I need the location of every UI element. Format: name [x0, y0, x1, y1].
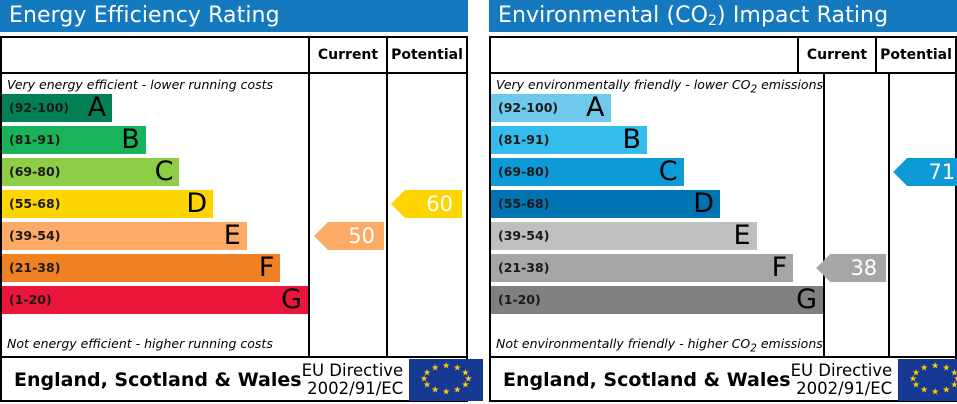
- energy-efficiency-rating-panel: Energy Efficiency Rating Current Potenti…: [0, 0, 468, 404]
- energy-table-body-row: Very energy efficient - lower running co…: [2, 74, 466, 358]
- eu-flag-icon: ★★★★★★★★★★★★: [898, 359, 957, 401]
- eu-flag-star-icon: ★: [461, 382, 469, 391]
- co2-band-e-letter: E: [734, 222, 751, 249]
- co2-bottom-caption-suffix: emissions: [757, 336, 823, 351]
- energy-header-current: Current: [310, 38, 388, 72]
- energy-directive-line1: EU Directive: [302, 362, 404, 380]
- energy-current-value: 50: [348, 226, 375, 247]
- co2-band-b-letter: B: [623, 126, 642, 153]
- energy-band-b-range: (81-91): [2, 134, 60, 147]
- energy-table-header-row: Current Potential: [2, 38, 466, 74]
- co2-footer-region: England, Scotland & Wales: [491, 369, 791, 391]
- epc-charts-container: Energy Efficiency Rating Current Potenti…: [0, 0, 957, 404]
- eu-flag-star-icon: ★: [920, 386, 928, 395]
- co2-band-list: (92-100) A (81-91) B (69-80) C (55-68): [491, 94, 823, 314]
- co2-band-g: (1-20) G: [491, 286, 823, 314]
- co2-bands-column: Very environmentally friendly - lower CO…: [491, 74, 825, 356]
- energy-top-caption: Very energy efficient - lower running co…: [2, 74, 308, 93]
- co2-title-suffix: ) Impact Rating: [717, 3, 888, 28]
- co2-band-d: (55-68) D: [491, 190, 720, 218]
- co2-directive-line1: EU Directive: [791, 362, 893, 380]
- energy-band-g: (1-20) G: [2, 286, 308, 314]
- energy-bottom-caption: Not energy efficient - higher running co…: [2, 336, 273, 355]
- energy-band-a: (92-100) A: [2, 94, 112, 122]
- energy-band-a-letter: A: [88, 94, 106, 121]
- energy-potential-rating-arrow: 60: [391, 190, 462, 218]
- energy-band-d: (55-68) D: [2, 190, 213, 218]
- co2-band-b: (81-91) B: [491, 126, 647, 154]
- energy-band-c-letter: C: [155, 158, 174, 185]
- energy-band-a-range: (92-100): [2, 102, 69, 115]
- eu-flag-star-icon: ★: [431, 365, 439, 374]
- energy-band-c: (69-80) C: [2, 158, 179, 186]
- co2-footer: England, Scotland & Wales EU Directive 2…: [491, 358, 955, 402]
- co2-band-d-range: (55-68): [491, 198, 549, 211]
- co2-potential-column: 71: [890, 74, 955, 356]
- co2-band-e-range: (39-54): [491, 230, 549, 243]
- energy-rating-grid: Current Potential Very energy efficient …: [0, 36, 468, 402]
- co2-title-subscript: 2: [708, 13, 717, 29]
- energy-potential-value: 60: [426, 194, 453, 215]
- eu-flag-star-icon: ★: [453, 365, 461, 374]
- co2-band-a: (92-100) A: [491, 94, 611, 122]
- energy-header-potential: Potential: [388, 38, 466, 72]
- co2-table-header-row: Current Potential: [491, 38, 955, 74]
- co2-band-a-range: (92-100): [491, 102, 558, 115]
- energy-band-g-letter: G: [281, 286, 302, 313]
- energy-footer-region: England, Scotland & Wales: [2, 369, 302, 391]
- energy-panel-title: Energy Efficiency Rating: [0, 0, 468, 32]
- co2-current-column: 38: [825, 74, 890, 356]
- energy-band-e: (39-54) E: [2, 222, 247, 250]
- energy-band-d-range: (55-68): [2, 198, 60, 211]
- energy-band-e-letter: E: [224, 222, 241, 249]
- co2-panel-title: Environmental (CO2) Impact Rating: [489, 0, 957, 32]
- energy-current-column: 50: [310, 74, 388, 356]
- co2-band-g-range: (1-20): [491, 294, 541, 307]
- co2-band-c: (69-80) C: [491, 158, 684, 186]
- co2-band-f-letter: F: [772, 254, 788, 281]
- co2-directive-line2: 2002/91/EC: [791, 380, 893, 398]
- co2-bottom-caption: Not environmentally friendly - higher CO…: [491, 336, 823, 355]
- energy-current-rating-arrow: 50: [314, 222, 384, 250]
- co2-potential-rating-arrow: 71: [893, 158, 957, 186]
- eu-flag-star-icon: ★: [942, 365, 950, 374]
- co2-top-caption-suffix: emissions: [757, 77, 823, 92]
- co2-band-d-letter: D: [693, 190, 714, 217]
- eu-flag-star-icon: ★: [442, 363, 450, 372]
- energy-band-f-range: (21-38): [2, 262, 60, 275]
- co2-band-c-letter: C: [659, 158, 678, 185]
- eu-flag-icon: ★★★★★★★★★★★★: [409, 359, 483, 401]
- eu-flag-star-icon: ★: [942, 386, 950, 395]
- co2-band-b-range: (81-91): [491, 134, 549, 147]
- eu-flag-star-icon: ★: [431, 386, 439, 395]
- eu-flag-star-icon: ★: [950, 382, 957, 391]
- co2-potential-value: 71: [928, 162, 955, 183]
- eu-flag-star-icon: ★: [442, 388, 450, 397]
- environmental-impact-rating-panel: Environmental (CO2) Impact Rating Curren…: [489, 0, 957, 404]
- energy-potential-column: 60: [388, 74, 466, 356]
- co2-band-f: (21-38) F: [491, 254, 793, 282]
- co2-rating-grid: Current Potential Very environmentally f…: [489, 36, 957, 402]
- energy-header-blank-cell: [2, 38, 310, 72]
- energy-band-f: (21-38) F: [2, 254, 280, 282]
- energy-band-f-letter: F: [259, 254, 275, 281]
- eu-flag-star-icon: ★: [920, 365, 928, 374]
- energy-footer-directive: EU Directive 2002/91/EC: [302, 362, 410, 398]
- co2-current-value: 38: [850, 258, 877, 279]
- co2-band-f-range: (21-38): [491, 262, 549, 275]
- co2-header-blank-cell: [491, 38, 799, 72]
- energy-directive-line2: 2002/91/EC: [302, 380, 404, 398]
- co2-bottom-caption-prefix: Not environmentally friendly - higher CO: [496, 336, 750, 351]
- energy-bands-column: Very energy efficient - lower running co…: [2, 74, 310, 356]
- eu-flag-star-icon: ★: [423, 369, 431, 378]
- energy-band-b: (81-91) B: [2, 126, 146, 154]
- energy-band-g-range: (1-20): [2, 294, 52, 307]
- co2-footer-directive: EU Directive 2002/91/EC: [791, 362, 899, 398]
- energy-band-list: (92-100) A (81-91) B (69-80) C (55-68): [2, 94, 308, 314]
- co2-band-a-letter: A: [586, 94, 604, 121]
- eu-flag-star-icon: ★: [931, 388, 939, 397]
- energy-footer: England, Scotland & Wales EU Directive 2…: [2, 358, 466, 402]
- energy-band-d-letter: D: [186, 190, 207, 217]
- eu-flag-star-icon: ★: [912, 369, 920, 378]
- co2-current-rating-arrow: 38: [816, 254, 886, 282]
- energy-band-b-letter: B: [121, 126, 140, 153]
- co2-header-current: Current: [799, 38, 877, 72]
- eu-flag-star-icon: ★: [453, 386, 461, 395]
- co2-top-caption: Very environmentally friendly - lower CO…: [491, 74, 823, 93]
- energy-band-c-range: (69-80): [2, 166, 60, 179]
- eu-flag-star-icon: ★: [931, 363, 939, 372]
- co2-bottom-caption-subscript: 2: [750, 343, 757, 355]
- co2-title-prefix: Environmental (CO: [498, 3, 708, 28]
- co2-band-c-range: (69-80): [491, 166, 549, 179]
- co2-band-g-letter: G: [796, 286, 817, 313]
- co2-top-caption-prefix: Very environmentally friendly - lower CO: [496, 77, 750, 92]
- energy-band-e-range: (39-54): [2, 230, 60, 243]
- co2-band-e: (39-54) E: [491, 222, 757, 250]
- co2-header-potential: Potential: [877, 38, 955, 72]
- co2-table-body-row: Very environmentally friendly - lower CO…: [491, 74, 955, 358]
